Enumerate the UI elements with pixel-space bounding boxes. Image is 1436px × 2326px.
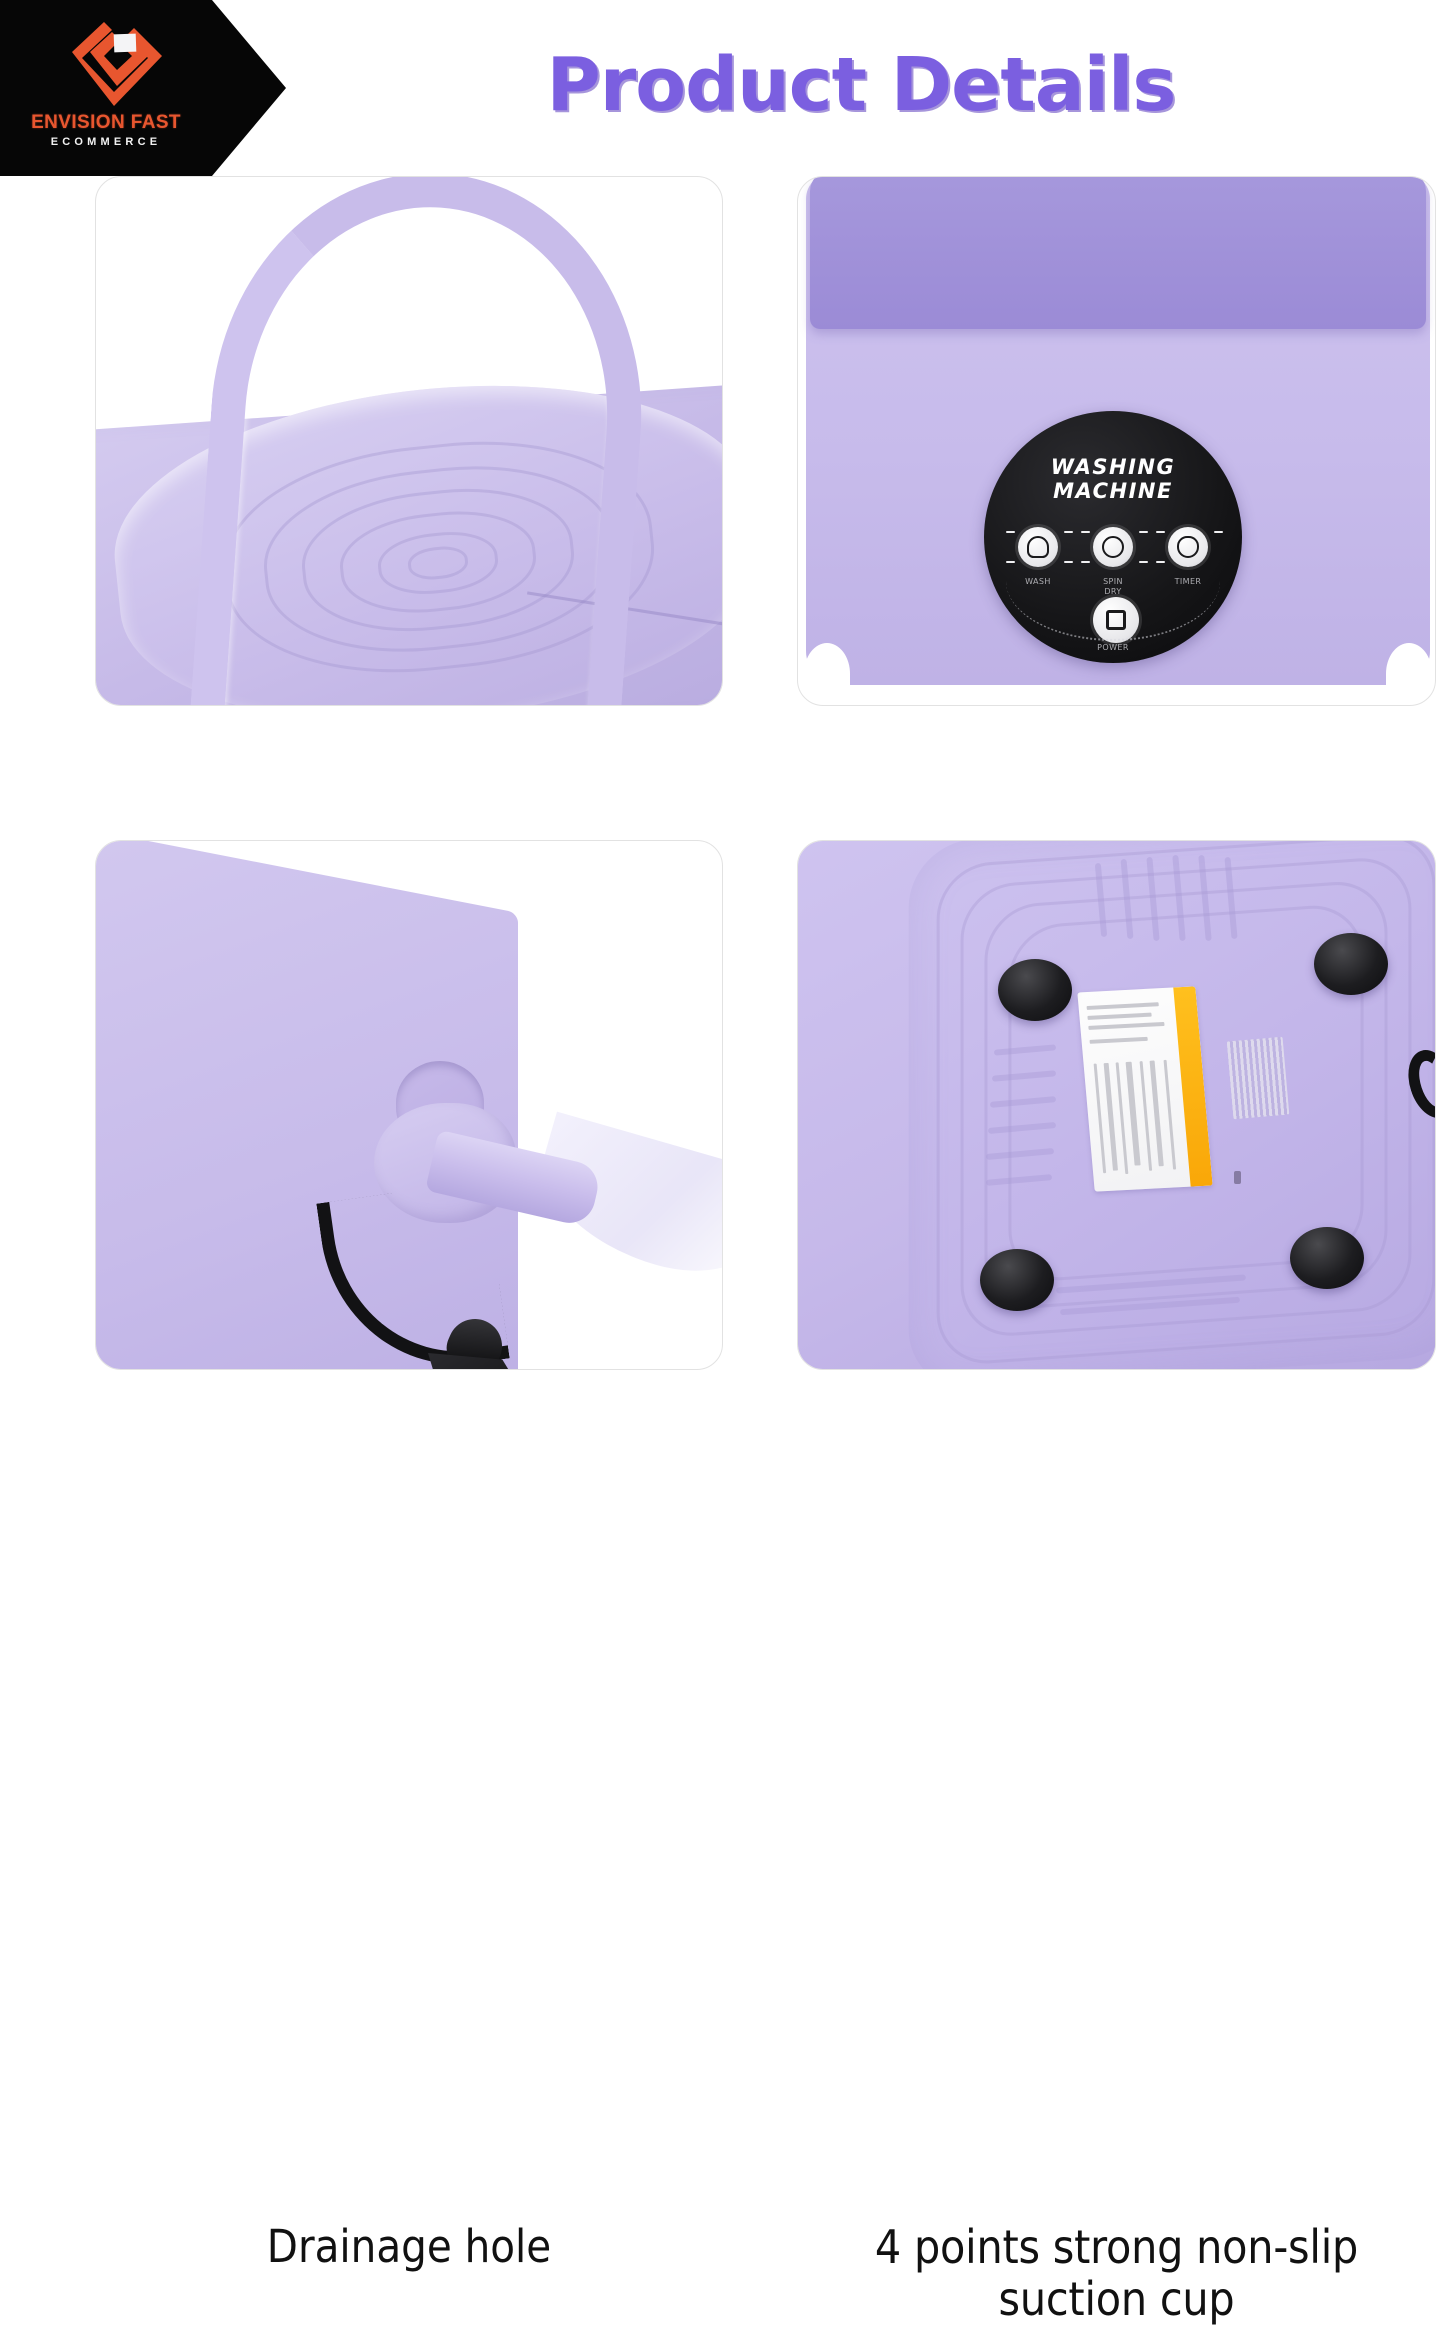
spec-line [1087, 1002, 1159, 1010]
detail-card-suction-cup: 4 points strong non-slip suction cup [797, 840, 1436, 1370]
control-panel-arc-text [1006, 581, 1220, 641]
photo-suction-cup [797, 840, 1436, 1370]
btn-tick [1006, 561, 1015, 563]
control-panel-title-line-2: MACHINE [984, 479, 1242, 503]
barcode-line [1150, 1060, 1164, 1166]
barcode-line [1104, 1063, 1118, 1171]
caption-suction-cup: 4 points strong non-slip suction cup [757, 2222, 1436, 2325]
spin-dry-button[interactable] [1093, 527, 1133, 567]
photo-folding-handle [95, 176, 723, 706]
wash-mode-button[interactable] [1018, 527, 1058, 567]
barcode-line [1126, 1062, 1141, 1166]
spec-line [1087, 1013, 1151, 1020]
detail-card-drainage-hole: Drainage hole [95, 840, 723, 1370]
qr-code-patch [1227, 1037, 1290, 1120]
btn-tick [1064, 561, 1073, 563]
timer-icon [1177, 536, 1199, 558]
btn-tick [1139, 531, 1148, 533]
btn-tick [1081, 561, 1090, 563]
suction-cup [980, 1249, 1054, 1311]
machine-lid [810, 176, 1426, 329]
spec-label [1077, 986, 1212, 1191]
body-notch [1386, 643, 1432, 687]
spin-icon [1102, 536, 1124, 558]
photo-drainage-hole [95, 840, 723, 1370]
chevron-logo-mark-icon [62, 18, 172, 110]
detail-card-control-buttons: WASHING MACHINE WASH SPIN DRY [797, 176, 1436, 706]
caption-drainage-hole: Drainage hole [55, 2222, 763, 2272]
shirt-icon [1027, 536, 1049, 558]
barcode-line [1164, 1060, 1177, 1170]
control-panel[interactable]: WASHING MACHINE WASH SPIN DRY [984, 411, 1242, 663]
control-panel-title-line-1: WASHING [984, 455, 1242, 479]
spec-line [1090, 1037, 1148, 1044]
brand-name: ENVISION FAST [0, 112, 212, 134]
btn-tick [1081, 531, 1090, 533]
timer-button[interactable] [1168, 527, 1208, 567]
btn-tick [1214, 531, 1223, 533]
suction-cup [998, 959, 1072, 1021]
detail-card-folding-handle: Folding handle [95, 176, 723, 706]
suction-cup [1314, 933, 1388, 995]
btn-tick [1006, 531, 1015, 533]
page-title: Product Details [286, 42, 1436, 128]
brand-subtitle: ECOMMERCE [0, 136, 212, 148]
brand-badge: ENVISION FAST ECOMMERCE [0, 0, 286, 176]
suction-cup [1290, 1227, 1364, 1289]
photo-control-buttons: WASHING MACHINE WASH SPIN DRY [797, 176, 1436, 706]
body-notch [804, 643, 850, 687]
mold-mark [1234, 1171, 1241, 1184]
btn-tick [1156, 531, 1165, 533]
btn-tick [1064, 531, 1073, 533]
power-label: POWER [1070, 643, 1156, 653]
btn-tick [1139, 561, 1148, 563]
folding-handle[interactable] [188, 176, 657, 706]
btn-tick [1156, 561, 1165, 563]
spec-line [1088, 1022, 1164, 1030]
